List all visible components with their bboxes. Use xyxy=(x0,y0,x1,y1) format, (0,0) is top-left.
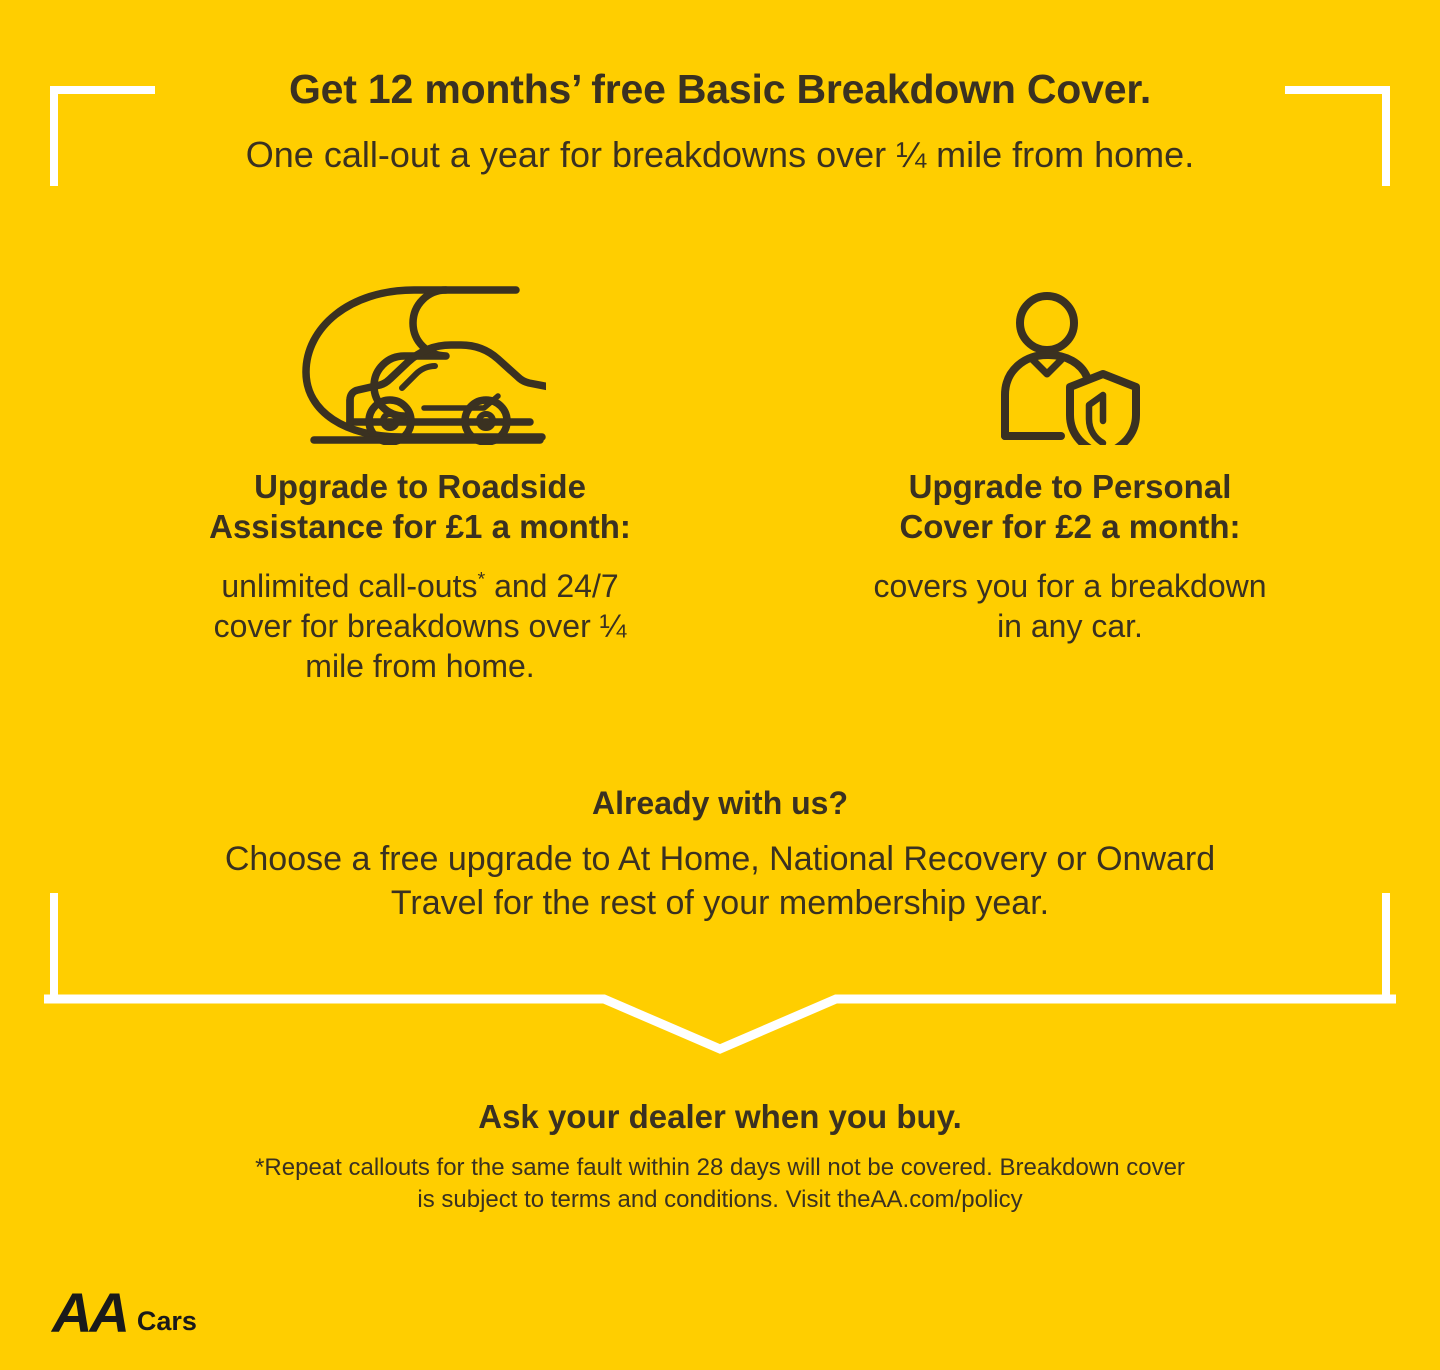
legal-disclaimer: *Repeat callouts for the same fault with… xyxy=(95,1152,1345,1215)
existing-members-body-line1: Choose a free upgrade to At Home, Nation… xyxy=(225,840,1215,878)
offer-body-personal: covers you for a breakdown in any car. xyxy=(760,566,1380,647)
offer-title-personal-line2: Cover for £2 a month: xyxy=(899,508,1240,545)
offer-body-roadside-line2: cover for breakdowns over ¼ xyxy=(214,608,627,644)
offer-column-roadside: Upgrade to Roadside Assistance for £1 a … xyxy=(70,270,770,686)
offer-body-roadside-line3: mile from home. xyxy=(305,648,534,684)
legal-disclaimer-line1: *Repeat callouts for the same fault with… xyxy=(255,1154,1185,1181)
existing-members-body: Choose a free upgrade to At Home, Nation… xyxy=(100,838,1340,925)
call-to-action: Ask your dealer when you buy. xyxy=(0,1098,1440,1136)
offer-body-personal-line2: in any car. xyxy=(997,608,1143,644)
car-on-road-icon xyxy=(70,270,770,445)
person-shield-icon xyxy=(760,270,1380,445)
offer-body-roadside: unlimited call-outs* and 24/7 cover for … xyxy=(70,566,770,687)
offer-body-personal-line1: covers you for a breakdown xyxy=(873,568,1266,604)
offer-body-roadside-line1b: and 24/7 xyxy=(485,568,618,604)
offer-title-personal: Upgrade to Personal Cover for £2 a month… xyxy=(760,467,1380,548)
offer-body-roadside-line1a: unlimited call-outs xyxy=(221,568,477,604)
offer-column-personal: Upgrade to Personal Cover for £2 a month… xyxy=(760,270,1380,646)
offer-title-roadside-line1: Upgrade to Roadside xyxy=(254,468,586,505)
offer-title-personal-line1: Upgrade to Personal xyxy=(909,468,1232,505)
offer-title-roadside-line2: Assistance for £1 a month: xyxy=(209,508,631,545)
aa-cars-logo: AA Cars xyxy=(52,1288,197,1338)
breakdown-cover-poster: Get 12 months’ free Basic Breakdown Cove… xyxy=(0,0,1440,1370)
frame-bottom-chevron-notch xyxy=(44,975,1396,1055)
page-subtitle: One call-out a year for breakdowns over … xyxy=(0,134,1440,176)
existing-members-body-line2: Travel for the rest of your membership y… xyxy=(391,884,1049,922)
legal-disclaimer-line2: is subject to terms and conditions. Visi… xyxy=(417,1186,1022,1213)
aa-logo-mark: AA xyxy=(52,1288,127,1338)
existing-members-heading: Already with us? xyxy=(0,785,1440,822)
aa-logo-wordmark: Cars xyxy=(137,1308,197,1335)
page-title: Get 12 months’ free Basic Breakdown Cove… xyxy=(0,66,1440,113)
offer-title-roadside: Upgrade to Roadside Assistance for £1 a … xyxy=(70,467,770,548)
